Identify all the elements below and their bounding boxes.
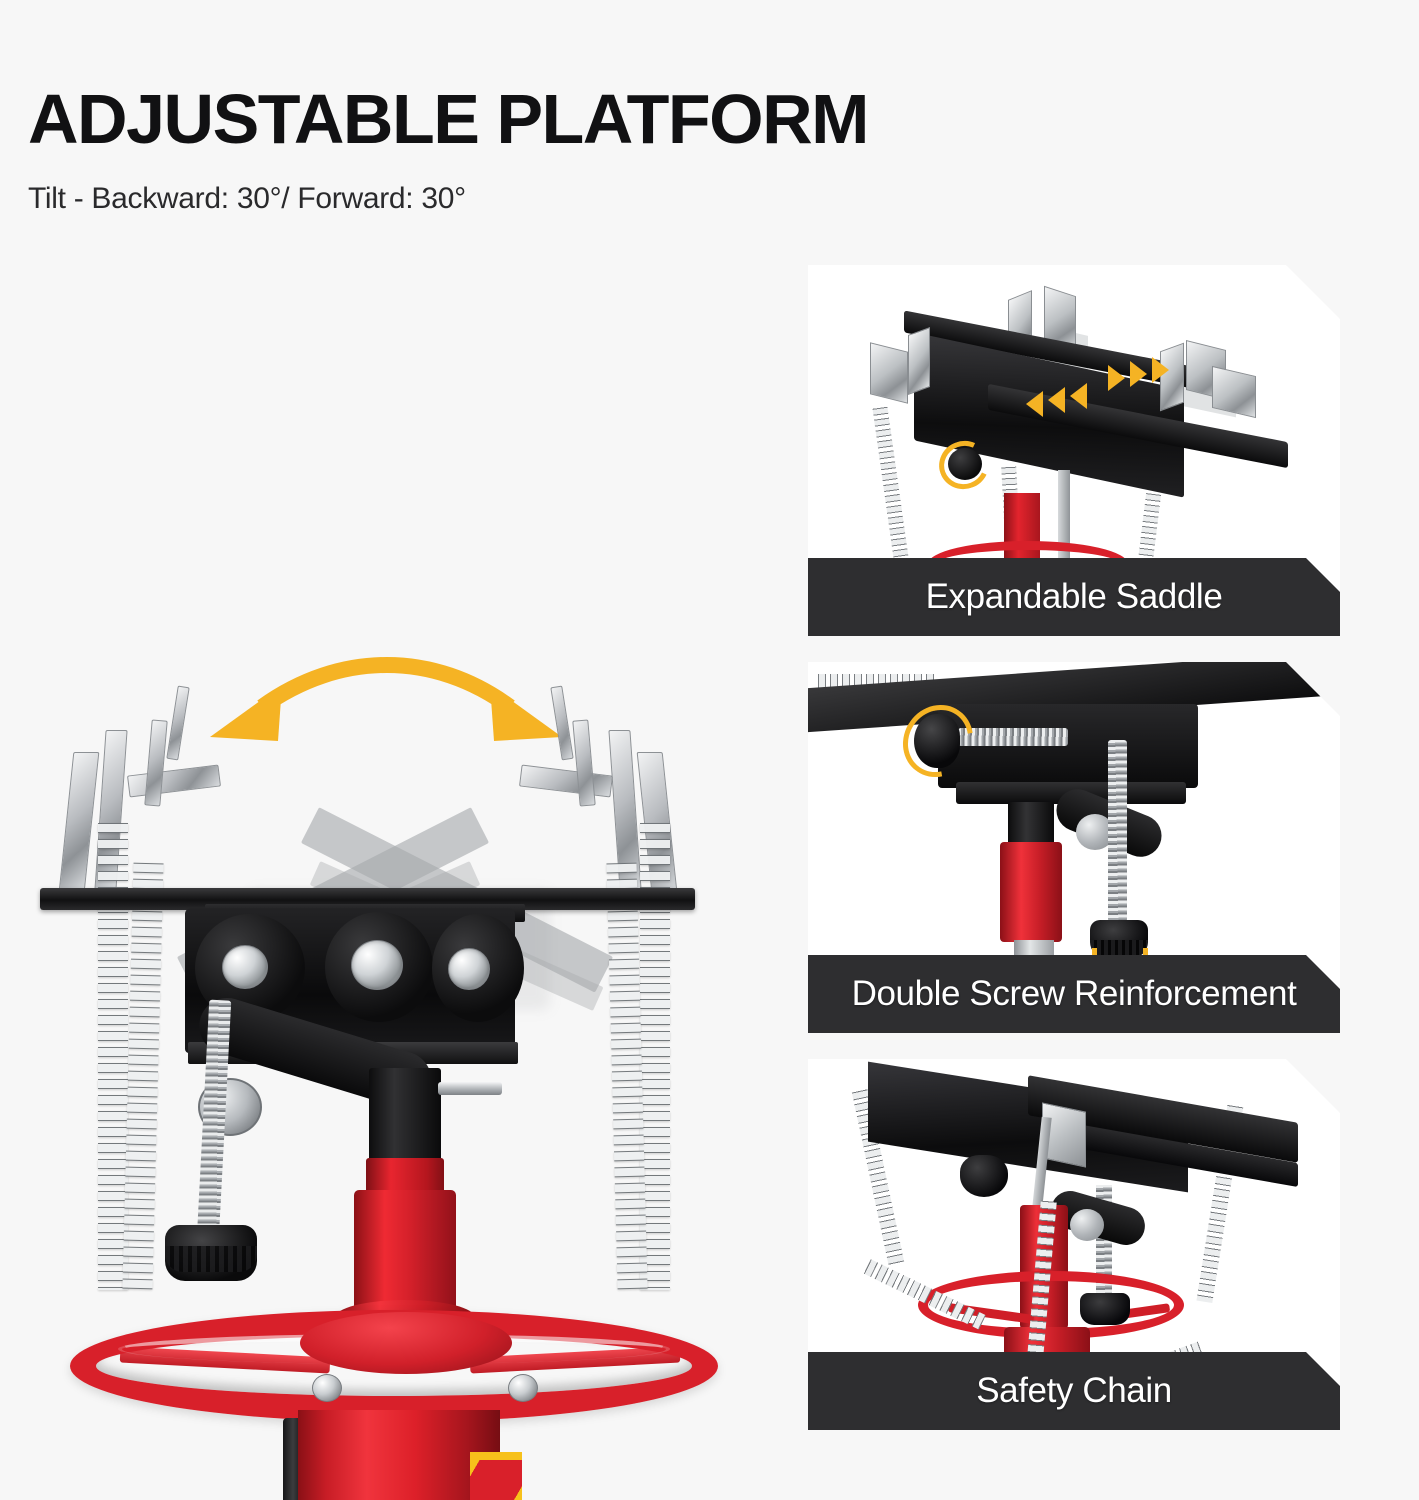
panel2-hub-body bbox=[938, 704, 1198, 788]
expand-chevron-right-1 bbox=[1108, 365, 1125, 391]
feature-panel-list: Expandable Saddle Double Screw Reinforce… bbox=[808, 265, 1340, 1456]
panel-3-caption-text: Safety Chain bbox=[976, 1371, 1172, 1411]
safety-chain-left-2 bbox=[122, 860, 163, 1291]
sticker-capacity-block bbox=[470, 1460, 522, 1500]
expand-chevron-left-2 bbox=[1048, 387, 1065, 413]
panel2-horizontal-screw bbox=[958, 728, 1068, 746]
base-hub-disc bbox=[300, 1312, 512, 1374]
saddle-bracket-left-5 bbox=[166, 686, 189, 761]
warning-label-sticker bbox=[470, 1452, 522, 1500]
panel3-knob bbox=[960, 1155, 1008, 1197]
ram-red-body bbox=[354, 1190, 456, 1316]
panel-1-caption-text: Expandable Saddle bbox=[926, 577, 1223, 617]
ram-release-pin bbox=[438, 1082, 502, 1095]
page-subtitle: Tilt - Backward: 30°/ Forward: 30° bbox=[28, 182, 1128, 216]
panel1-bracket-1 bbox=[870, 342, 908, 403]
hub-bolt-left bbox=[222, 945, 268, 989]
saddle-bracket-left-1 bbox=[59, 752, 100, 892]
expand-chevron-right-2 bbox=[1130, 361, 1147, 387]
panel1-lock-knob bbox=[948, 448, 982, 480]
panel3-link-pin bbox=[1070, 1209, 1104, 1241]
panel3-lower-knob bbox=[1080, 1293, 1130, 1325]
panel2-red-ram bbox=[1000, 842, 1062, 942]
saddle-bracket-right-3 bbox=[519, 764, 613, 797]
base-bolt-right bbox=[508, 1374, 538, 1402]
panel2-screw-knob bbox=[914, 714, 960, 768]
panel2-vertical-screw bbox=[1108, 740, 1127, 922]
hero-product-image bbox=[0, 300, 790, 1500]
ram-red-upper bbox=[366, 1158, 444, 1194]
panel-1-caption-bar: Expandable Saddle bbox=[808, 558, 1340, 636]
saddle-bracket-right-4 bbox=[572, 719, 595, 806]
hub-bolt-center bbox=[351, 940, 403, 990]
hero-stage bbox=[0, 300, 790, 1500]
base-bolt-left bbox=[312, 1374, 342, 1402]
expand-chevron-right-3 bbox=[1152, 357, 1169, 383]
feature-panel-expandable-saddle[interactable]: Expandable Saddle bbox=[808, 265, 1340, 636]
tilt-arc-arrow-icon bbox=[190, 645, 580, 775]
expand-chevron-left-3 bbox=[1070, 383, 1087, 409]
expand-chevron-left-1 bbox=[1026, 391, 1043, 417]
header: ADJUSTABLE PLATFORM Tilt - Backward: 30°… bbox=[28, 84, 1128, 216]
panel-2-caption-text: Double Screw Reinforcement bbox=[852, 974, 1297, 1014]
saddle-bracket-left-3 bbox=[127, 764, 221, 797]
saddle-bracket-left-4 bbox=[144, 719, 167, 806]
feature-panel-double-screw[interactable]: Double Screw Reinforcement bbox=[808, 662, 1340, 1033]
panel-2-caption-bar: Double Screw Reinforcement bbox=[808, 955, 1340, 1033]
ram-black-section bbox=[369, 1068, 441, 1166]
page-title: ADJUSTABLE PLATFORM bbox=[28, 84, 1128, 154]
panel1-bracket-2 bbox=[908, 327, 930, 395]
panel-3-caption-bar: Safety Chain bbox=[808, 1352, 1340, 1430]
hub-bolt-right bbox=[448, 948, 490, 990]
panel1-chain-left bbox=[872, 405, 911, 575]
adjustment-knob-ridges bbox=[165, 1246, 257, 1272]
feature-panel-safety-chain[interactable]: Safety Chain bbox=[808, 1059, 1340, 1430]
